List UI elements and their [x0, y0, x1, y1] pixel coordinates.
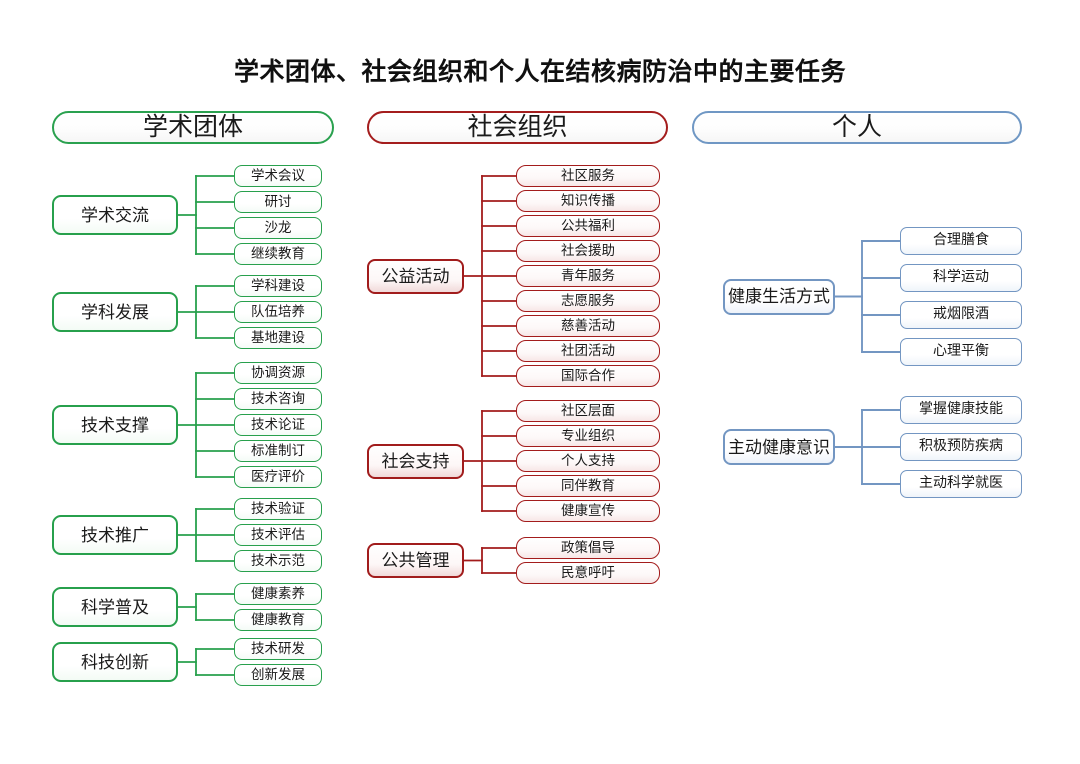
page-title: 学术团体、社会组织和个人在结核病防治中的主要任务: [0, 52, 1080, 88]
leaf-node[interactable]: 沙龙: [234, 217, 322, 239]
group-node[interactable]: 公益活动: [367, 259, 464, 294]
group-node[interactable]: 技术推广: [52, 515, 178, 555]
leaf-node[interactable]: 积极预防疾病: [900, 433, 1022, 461]
leaf-node[interactable]: 政策倡导: [516, 537, 660, 559]
diagram-canvas: 学术团体、社会组织和个人在结核病防治中的主要任务 学术团体学术会议研讨沙龙继续教…: [0, 0, 1080, 764]
leaf-node[interactable]: 专业组织: [516, 425, 660, 447]
leaf-node[interactable]: 技术论证: [234, 414, 322, 436]
leaf-node[interactable]: 协调资源: [234, 362, 322, 384]
leaf-node[interactable]: 学术会议: [234, 165, 322, 187]
leaf-node[interactable]: 技术示范: [234, 550, 322, 572]
leaf-node[interactable]: 创新发展: [234, 664, 322, 686]
leaf-node[interactable]: 社会援助: [516, 240, 660, 262]
group-node[interactable]: 社会支持: [367, 444, 464, 479]
leaf-node[interactable]: 科学运动: [900, 264, 1022, 292]
group-node[interactable]: 技术支撑: [52, 405, 178, 445]
leaf-node[interactable]: 志愿服务: [516, 290, 660, 312]
leaf-node[interactable]: 戒烟限酒: [900, 301, 1022, 329]
group-node[interactable]: 主动健康意识: [723, 429, 835, 465]
column-header-individuals[interactable]: 个人: [692, 111, 1022, 144]
leaf-node[interactable]: 技术验证: [234, 498, 322, 520]
leaf-node[interactable]: 基地建设: [234, 327, 322, 349]
leaf-node[interactable]: 继续教育: [234, 243, 322, 265]
leaf-node[interactable]: 公共福利: [516, 215, 660, 237]
leaf-node[interactable]: 医疗评价: [234, 466, 322, 488]
group-node[interactable]: 学术交流: [52, 195, 178, 235]
leaf-node[interactable]: 青年服务: [516, 265, 660, 287]
column-header-social-organizations[interactable]: 社会组织: [367, 111, 668, 144]
leaf-node[interactable]: 心理平衡: [900, 338, 1022, 366]
leaf-node[interactable]: 健康教育: [234, 609, 322, 631]
leaf-node[interactable]: 技术评估: [234, 524, 322, 546]
group-node[interactable]: 科学普及: [52, 587, 178, 627]
leaf-node[interactable]: 队伍培养: [234, 301, 322, 323]
leaf-node[interactable]: 技术研发: [234, 638, 322, 660]
group-node[interactable]: 公共管理: [367, 543, 464, 578]
group-node[interactable]: 学科发展: [52, 292, 178, 332]
leaf-node[interactable]: 社区服务: [516, 165, 660, 187]
column-header-academic-societies[interactable]: 学术团体: [52, 111, 334, 144]
leaf-node[interactable]: 研讨: [234, 191, 322, 213]
leaf-node[interactable]: 同伴教育: [516, 475, 660, 497]
leaf-node[interactable]: 主动科学就医: [900, 470, 1022, 498]
leaf-node[interactable]: 个人支持: [516, 450, 660, 472]
leaf-node[interactable]: 掌握健康技能: [900, 396, 1022, 424]
leaf-node[interactable]: 社区层面: [516, 400, 660, 422]
leaf-node[interactable]: 慈善活动: [516, 315, 660, 337]
leaf-node[interactable]: 知识传播: [516, 190, 660, 212]
leaf-node[interactable]: 标准制订: [234, 440, 322, 462]
leaf-node[interactable]: 合理膳食: [900, 227, 1022, 255]
leaf-node[interactable]: 民意呼吁: [516, 562, 660, 584]
leaf-node[interactable]: 健康素养: [234, 583, 322, 605]
leaf-node[interactable]: 社团活动: [516, 340, 660, 362]
leaf-node[interactable]: 国际合作: [516, 365, 660, 387]
group-node[interactable]: 科技创新: [52, 642, 178, 682]
leaf-node[interactable]: 技术咨询: [234, 388, 322, 410]
leaf-node[interactable]: 学科建设: [234, 275, 322, 297]
group-node[interactable]: 健康生活方式: [723, 279, 835, 315]
leaf-node[interactable]: 健康宣传: [516, 500, 660, 522]
